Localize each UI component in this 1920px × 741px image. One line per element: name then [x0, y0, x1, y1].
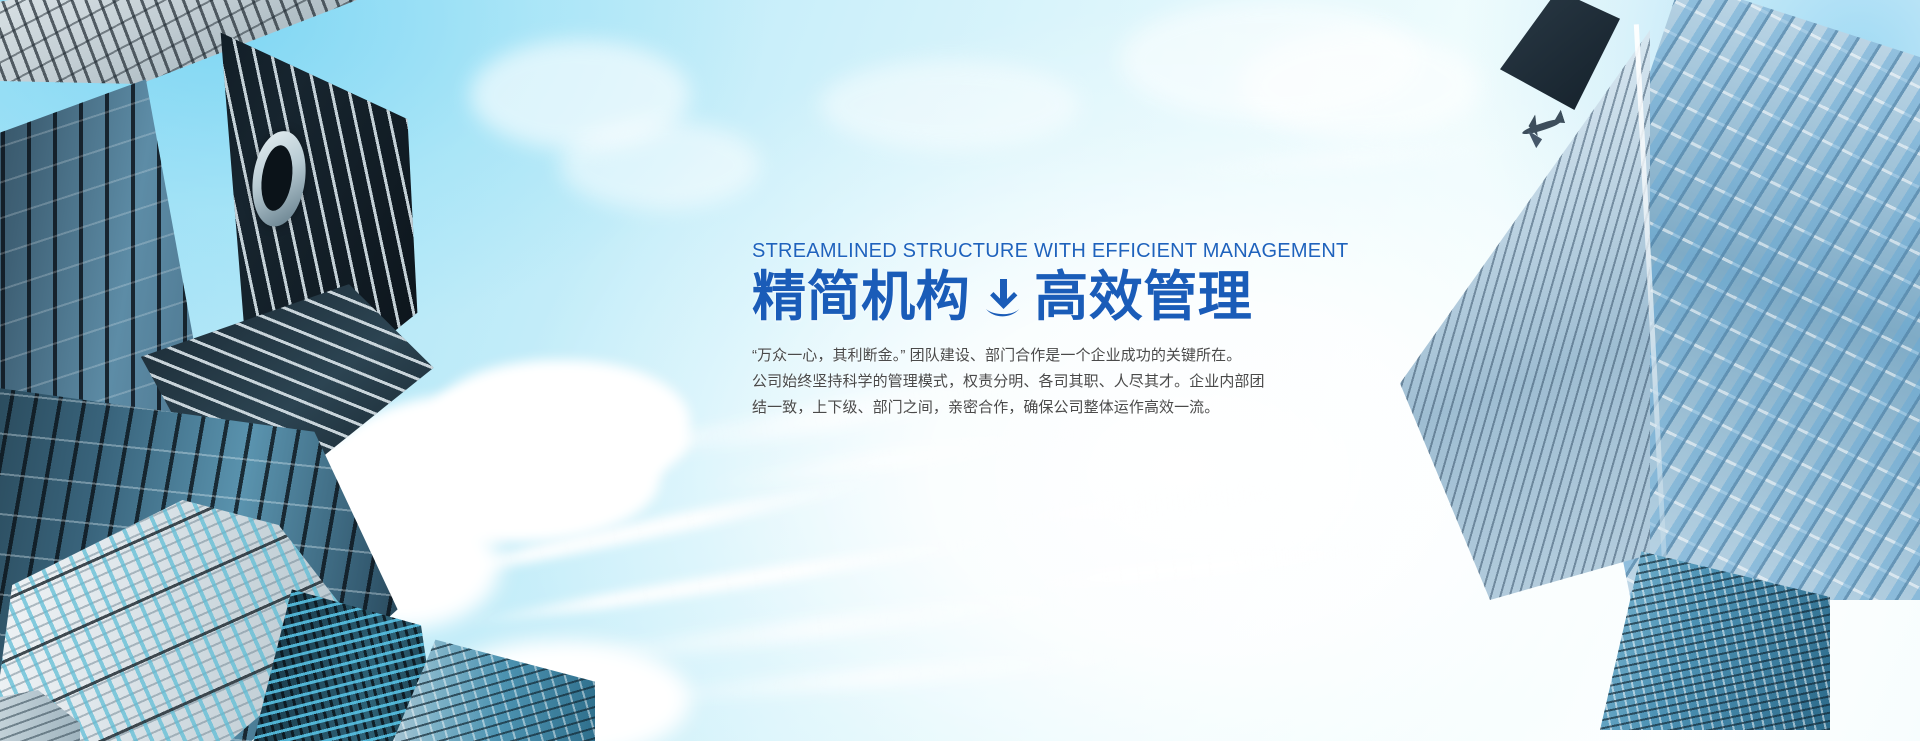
- tower-right: [1390, 0, 1920, 620]
- hero-paragraph: “万众一心，其利断金。” 团队建设、部门合作是一个企业成功的关键所在。 公司始终…: [752, 343, 1312, 420]
- paragraph-line-2: 公司始终坚持科学的管理模式，权责分明、各司其职、人尽其才。企业内部团: [752, 369, 1312, 395]
- hero-copy: STREAMLINED STRUCTURE WITH EFFICIENT MAN…: [752, 240, 1312, 421]
- headline-part-left: 精简机构: [752, 267, 970, 327]
- down-arrow-glyph-icon: [982, 275, 1022, 319]
- hero-eyebrow: STREAMLINED STRUCTURE WITH EFFICIENT MAN…: [752, 240, 1312, 263]
- paragraph-line-3: 结一致，上下级、部门之间，亲密合作，确保公司整体运作高效一流。: [752, 395, 1312, 421]
- hero-headline: 精简机构 高效管理: [752, 267, 1312, 327]
- tower-right-roof-cap: [1500, 0, 1620, 110]
- hero-banner: STREAMLINED STRUCTURE WITH EFFICIENT MAN…: [0, 0, 1920, 741]
- paragraph-line-1: “万众一心，其利断金。” 团队建设、部门合作是一个企业成功的关键所在。: [752, 343, 1312, 369]
- headline-part-right: 高效管理: [1034, 267, 1252, 327]
- building-cluster: [0, 440, 590, 741]
